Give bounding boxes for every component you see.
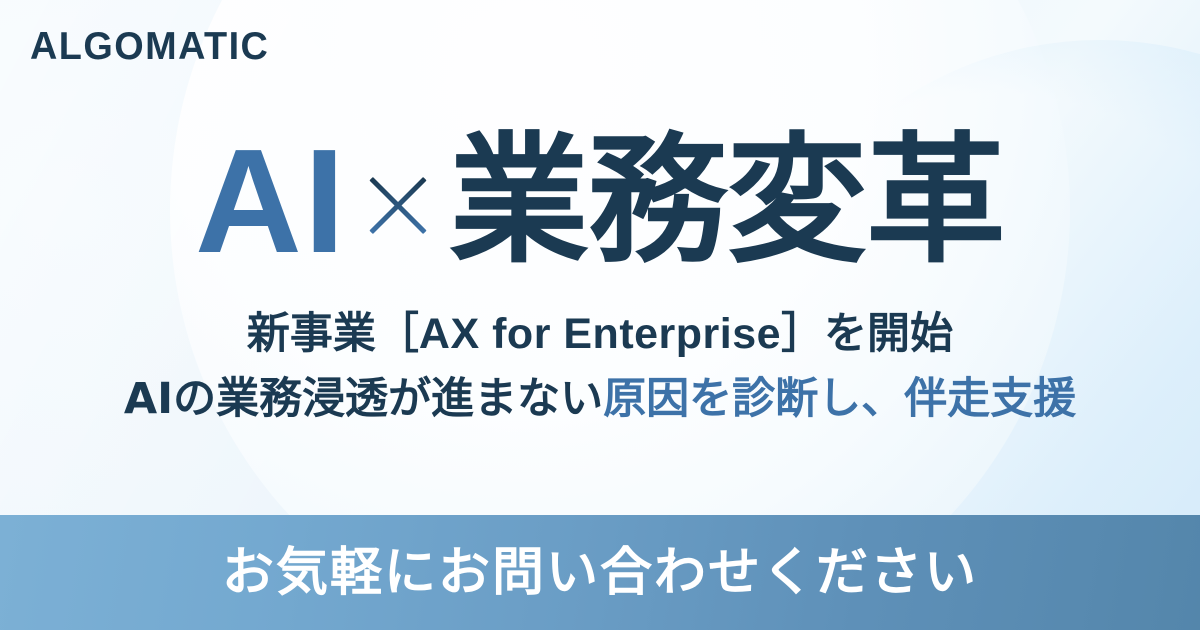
promo-banner: ALGOMATIC AI 業務変革 新事業［AX for Enterprise］…	[0, 0, 1200, 630]
multiplication-cross-icon	[367, 174, 429, 236]
cta-band[interactable]: お気軽にお問い合わせください	[0, 515, 1200, 630]
subtitle-line-1-latin: AX for Enterprise	[419, 310, 781, 358]
headline-ai-text: AI	[195, 128, 361, 276]
algomatic-logo: ALGOMATIC	[30, 27, 269, 66]
cta-band-text: お気軽にお問い合わせください	[222, 547, 978, 599]
subtitle-line-1-suffix: ］を開始	[781, 309, 953, 359]
headline-jp-text: 業務変革	[449, 132, 1005, 272]
subtitle-line-2-accent: 原因を診断し、伴走支援	[603, 374, 1076, 424]
subtitle-line-1: 新事業［AX for Enterprise］を開始	[0, 313, 1200, 356]
subtitle-line-2: AIの業務浸透が進まない原因を診断し、伴走支援	[0, 378, 1200, 421]
subtitle-line-2-plain: AIの業務浸透が進まない	[124, 374, 603, 424]
headline: AI 業務変革	[0, 128, 1200, 276]
subtitle-line-1-prefix: 新事業［	[247, 309, 419, 359]
